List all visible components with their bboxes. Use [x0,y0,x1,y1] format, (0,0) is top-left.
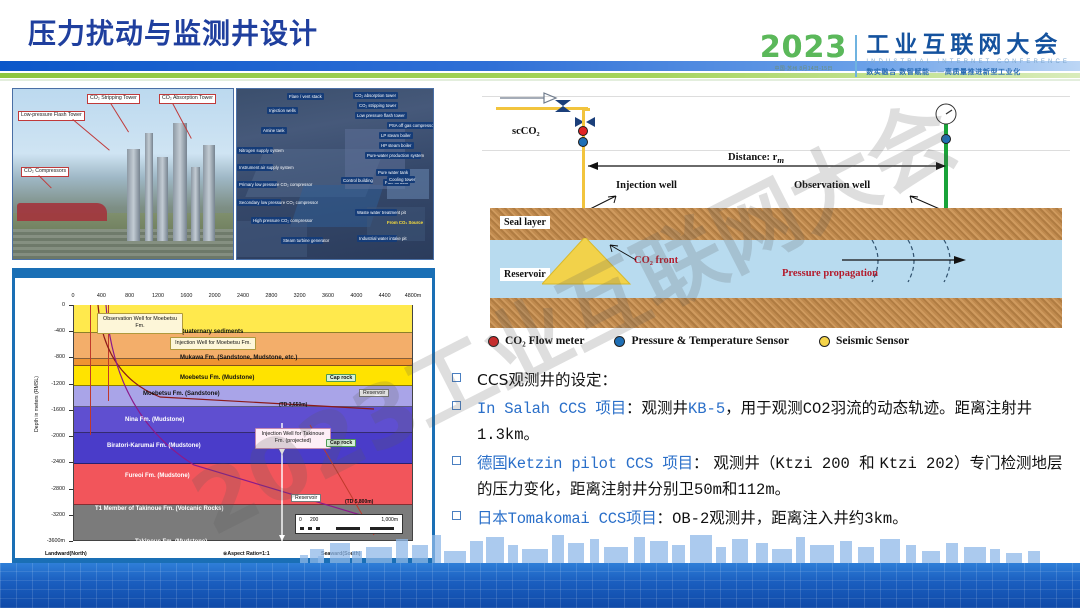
y-tick-7: -2800 [51,486,65,492]
layer-label-t1-takinoue: T1 Member of Takinoue Fm. (Volcanic Rock… [95,506,223,512]
tag-cap-rock-lower: Cap rock [326,439,356,447]
aerial-label-waste-water-pit: Waste water treatment pit [355,209,397,216]
aerial-label-control-building: Control building [341,177,373,184]
skyline-building-21 [690,535,712,565]
skyline-building-14 [552,535,564,565]
skyline-building-3 [330,543,350,565]
pressure-direction-arrow-icon [840,254,968,266]
chart-x-axis: 0400800120016002000240028003200360040004… [73,293,413,305]
skyline-decoration [0,531,1080,565]
photo-label-co2-compressors: CO₂ Compressors [21,167,69,177]
layer-label-mukawa: Mukawa Fm. (Sandstone, Mudstone, etc.) [180,355,297,361]
scalebar-mid: 200 [310,517,318,523]
logo-text-block: 工业互联网大会 INDUSTRIAL INTERNET CONFERENCE 数… [866,33,1070,77]
page-title: 压力扰动与监测井设计 [28,12,318,52]
legend-dot-seismic-sensor [819,336,830,347]
plant-tower-group [123,121,228,241]
callout-injection-well-takinoue-text: Injection Well for Takinoue Fm. (project… [262,431,325,444]
aerial-label-steam-turbine: Steam turbine generator [281,237,323,244]
y-tick-8: -3200 [51,512,65,518]
aerial-label-from-co2-source: From CO₂ Source [385,219,425,226]
ccs-plant-photo: CO₂ Stripping Tower CO₂ Absorption Tower… [12,88,234,260]
x-tick-5: 2000 [209,293,221,299]
observation-well-label: Observation well [794,180,870,191]
skyline-building-16 [590,539,599,565]
x-tick-7: 2800 [265,293,277,299]
co2-front-label: CO₂ front [634,255,678,266]
y-tick-0: 0 [62,302,65,308]
photo-row: CO₂ Stripping Tower CO₂ Absorption Tower… [12,88,435,260]
aerial-label-hp-steam-boiler: HP steam boiler [379,142,414,149]
aerial-label-amine-tank: Amine tank [261,127,287,134]
skyline-building-6 [396,539,408,565]
aerial-label-psa-off-gas: PSA off gas compressor [387,122,434,129]
x-tick-10: 4000 [350,293,362,299]
feed-arrow-icon [500,92,560,104]
bullet-square-icon [452,456,461,465]
layer-label-nina: Nina Fm. (Mudstone) [125,417,184,423]
aerial-label-co2-absorption-tower: CO₂ absorption tower [353,92,398,99]
skyline-building-11 [486,537,504,565]
aerial-label-injection-wells: Injection wells [267,107,298,114]
seal-layer-label: Seal layer [500,216,550,229]
skyline-building-24 [756,543,768,565]
callout-injection-well-moebetsu: Injection Well for Moebetsu Fm. [170,337,256,350]
bullet-text: 日本Tomakomai CCS项目：OB-2观测井，距离注入井约3km。 [477,506,908,532]
x-tick-8: 3200 [294,293,306,299]
legend-dot-pt-sensor [614,336,625,347]
logo-year: 2023 [760,33,848,63]
distance-label: Distance: rm [722,152,790,165]
aerial-label-primary-lp-compressor: Primary low pressure CO₂ compressor [237,181,277,188]
bullet-ketzin-pilot-ccs: 德国Ketzin pilot CCS 项目： 观测井（Ktzi 200 和 Kt… [452,451,1072,503]
distance-label-text: Distance: r [728,152,777,163]
pressure-propagation-label: Pressure propagation [782,268,878,279]
co2-flow-meter-dot [578,126,588,136]
scalebar-end: 1,000m [381,517,398,523]
bullet-square-icon [452,373,461,382]
tag-cap-rock-upper: Cap rock [326,374,356,382]
x-tick-3: 1200 [152,293,164,299]
co2-front-leader-icon [606,242,638,264]
annotation-td-5800: (TD 5,800m) [345,499,373,505]
x-tick-1: 400 [97,293,106,299]
legend-label-pt-sensor: Pressure & Temperature Sensor [631,335,788,347]
plant-compressor-building [17,203,107,221]
injection-well-label: Injection well [616,180,677,191]
valve-icon-1 [554,99,572,113]
bullet-ccs-observation-well-setting: CCS观测井的设定： [452,368,1072,393]
skyline-building-31 [906,545,916,565]
seal-layer-band [490,208,1062,240]
geologic-cross-section-chart: 0400800120016002000240028003200360040004… [12,268,435,568]
header-divider-thin [0,79,1080,81]
sc-co2-label: scCO₂ [512,126,540,137]
injection-pt-sensor-surface [578,137,588,147]
aerial-label-water-intake-pit: Industrial water intake pit [357,235,397,242]
skyline-building-30 [880,539,900,565]
layer-label-biratori: Biratori-Karumai Fm. (Mudstone) [107,443,201,449]
aerial-label-secondary-lp-compressor: Secondary low pressure CO₂ compressor [237,199,281,206]
layer-label-fureoi: Fureoi Fm. (Mudstone) [125,473,190,479]
y-tick-6: -2400 [51,459,65,465]
legend-item-co2-flow-meter: CO₂ Flow meter [488,335,584,347]
x-tick-4: 1600 [180,293,192,299]
x-tick-2: 800 [125,293,134,299]
tag-reservoir-lower: Reservoir [291,494,321,502]
skyline-building-10 [470,541,483,565]
skyline-building-19 [650,541,668,565]
x-tick-11: 4400 [379,293,391,299]
logo-tagline: 数实融合 数智赋能——高质量推进新型工业化 [866,67,1070,77]
scalebar-start: 0 [299,517,302,523]
y-tick-1: -400 [54,328,65,334]
legend-item-pt-sensor: Pressure & Temperature Sensor [614,335,788,347]
pressure-gauge-icon [934,102,958,126]
photo-label-absorption-tower: CO₂ Absorption Tower [159,94,216,104]
logo-year-block: 2023 中国·苏州 8月14日-15日 [760,33,856,72]
skyline-building-18 [634,537,645,565]
bullet-text: In Salah CCS 项目：观测井KB-5，用于观测CO2羽流的动态轨迹。距… [477,396,1072,448]
aerial-label-cooling-tower: Cooling tower [387,176,415,183]
bullet-in-salah-ccs: In Salah CCS 项目：观测井KB-5，用于观测CO2羽流的动态轨迹。距… [452,396,1072,448]
legend-label-co2-flow-meter: CO₂ Flow meter [505,335,584,347]
callout-injection-well-takinoue: Injection Well for Takinoue Fm. (project… [255,428,331,449]
bullet-text: 德国Ketzin pilot CCS 项目： 观测井（Ktzi 200 和 Kt… [477,451,1072,503]
base-layer-band [490,298,1062,328]
skyline-building-8 [432,535,441,565]
logo-year-subtitle: 中国·苏州 8月14日-15日 [775,65,833,72]
bullet-square-icon [452,511,461,520]
distance-label-sub: m [777,155,784,165]
skyline-building-26 [796,537,805,565]
skyline-building-12 [508,545,518,565]
layer-label-moebetsu-mud: Moebetsu Fm. (Mudstone) [180,375,254,381]
logo-divider [855,35,857,77]
callout-observation-well-moebetsu-text: Observation Well for Moebetsu Fm. [103,316,177,329]
aerial-label-pure-water-production: Pure-water production system [365,152,421,159]
y-tick-2: -800 [54,354,65,360]
skyline-building-15 [568,543,584,565]
layer-label-quaternary: Quaternary sediments [180,329,243,335]
chart-top-band [15,271,432,278]
skyline-building-27 [810,545,834,565]
legend-dot-co2-flow-meter [488,336,499,347]
injection-observation-well-diagram: scCO₂ Distance: rm Injection well Observ… [482,90,1070,335]
photo-label-stripping-tower: CO₂ Stripping Tower [87,94,140,104]
layer-label-moebetsu-sand: Moebetsu Fm. (Sandstone) [143,391,220,397]
bullet-tomakomai-ccs: 日本Tomakomai CCS项目：OB-2观测井，距离注入井约3km。 [452,506,1072,532]
skyline-building-33 [946,543,958,565]
callout-observation-well-moebetsu: Observation Well for Moebetsu Fm. [97,313,183,334]
x-tick-6: 2400 [237,293,249,299]
y-tick-4: -1600 [51,407,65,413]
aerial-label-lp-steam-boiler: LP steam boiler [379,132,413,139]
aerial-label-co2-stripping-tower: CO₂ stripping tower [357,102,398,109]
skyline-building-7 [412,545,428,565]
aerial-label-nitrogen-supply: Nitrogen supply system [237,147,273,154]
bottom-band-grid [0,563,1080,608]
x-tick-9: 3600 [322,293,334,299]
tag-reservoir-upper: Reservoir [359,389,389,397]
y-tick-5: -2000 [51,433,65,439]
annotation-td-3650: (TD 3,650m) [279,402,307,408]
chart-y-axis-label: Depth in meters (RMSL) [34,354,40,454]
skyline-building-28 [840,541,852,565]
y-tick-3: -1200 [51,381,65,387]
aerial-label-flare-vent-stack: Flare / vent stack [287,93,324,100]
bullet-text: CCS观测井的设定： [477,368,617,393]
ccs-aerial-photo: Flare / vent stack CO₂ absorption tower … [236,88,434,260]
bullet-square-icon [452,401,461,410]
x-tick-12: 4800m [405,293,421,299]
callout-injection-well-moebetsu-text: Injection Well for Moebetsu Fm. [175,340,251,346]
legend-item-seismic-sensor: Seismic Sensor [819,335,909,347]
diagram-legend: CO₂ Flow meter Pressure & Temperature Se… [488,330,1068,352]
skyline-building-20 [672,545,685,565]
logo-english-name: INDUSTRIAL INTERNET CONFERENCE [866,59,1070,65]
skyline-building-23 [732,539,748,565]
aerial-label-instrument-air: Instrument air supply system [237,164,273,171]
legend-label-seismic-sensor: Seismic Sensor [836,335,909,347]
conference-logo: 2023 中国·苏州 8月14日-15日 工业互联网大会 INDUSTRIAL … [760,33,1070,77]
x-tick-0: 0 [72,293,75,299]
aerial-label-flash-tower: Low pressure flash tower [355,112,407,119]
observation-pt-sensor-surface [941,134,951,144]
logo-chinese-name: 工业互联网大会 [866,33,1070,57]
aerial-label-hp-compressor: High pressure CO₂ compressor [251,217,291,224]
bullet-list: CCS观测井的设定：In Salah CCS 项目：观测井KB-5，用于观测CO… [452,368,1072,535]
